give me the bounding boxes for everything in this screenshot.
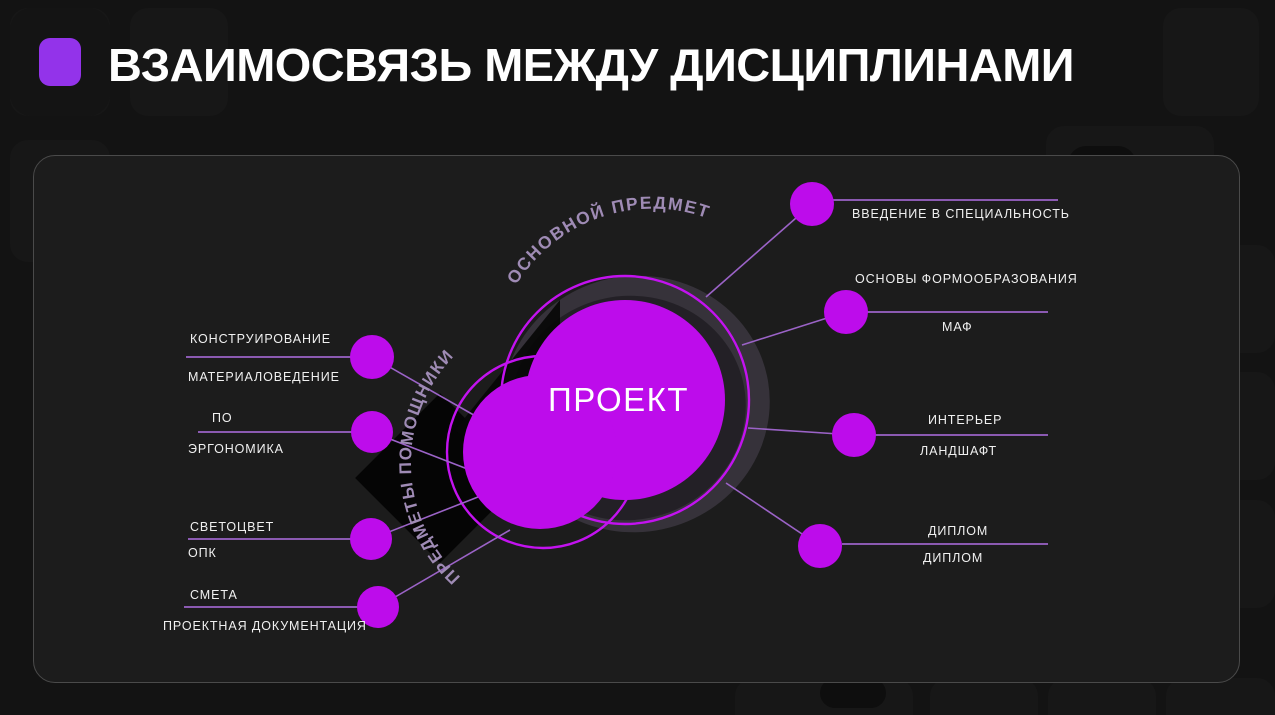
center-label: ПРОЕКТ (548, 381, 689, 419)
rounded-square-icon (39, 38, 81, 86)
bg-card-12 (930, 678, 1038, 715)
bg-card-14 (1166, 678, 1275, 715)
slide-canvas: ВЗАИМОСВЯЗЬ МЕЖДУ ДИСЦИПЛИНАМИ (0, 0, 1275, 715)
label-left-4-below: ПРОЕКТНАЯ ДОКУМЕНТАЦИЯ (163, 619, 367, 633)
bg-card-13 (1048, 678, 1156, 715)
label-right-3-above: ИНТЕРЬЕР (928, 413, 1002, 427)
label-right-3-below: ЛАНДШАФТ (920, 444, 997, 458)
label-right-4-above: ДИПЛОМ (928, 524, 988, 538)
label-right-2-below: МАФ (942, 320, 973, 334)
label-left-2-below: ЭРГОНОМИКА (188, 442, 284, 456)
label-right-4-below: ДИПЛОМ (923, 551, 983, 565)
label-left-3-below: ОПК (188, 546, 217, 560)
page-title: ВЗАИМОСВЯЗЬ МЕЖДУ ДИСЦИПЛИНАМИ (108, 39, 1074, 91)
label-right-2-above: ОСНОВЫ ФОРМООБРАЗОВАНИЯ (855, 272, 1078, 286)
label-left-1-above: КОНСТРУИРОВАНИЕ (190, 332, 331, 346)
label-left-4-above: СМЕТА (190, 588, 238, 602)
slide-header: ВЗАИМОСВЯЗЬ МЕЖДУ ДИСЦИПЛИНАМИ (0, 0, 1275, 130)
label-left-2-above: ПО (212, 411, 233, 425)
label-left-1-below: МАТЕРИАЛОВЕДЕНИЕ (188, 370, 340, 384)
logo-container (10, 8, 110, 116)
label-left-3-above: СВЕТОЦВЕТ (190, 520, 274, 534)
label-right-1-below: ВВЕДЕНИЕ В СПЕЦИАЛЬНОСТЬ (852, 207, 1070, 221)
